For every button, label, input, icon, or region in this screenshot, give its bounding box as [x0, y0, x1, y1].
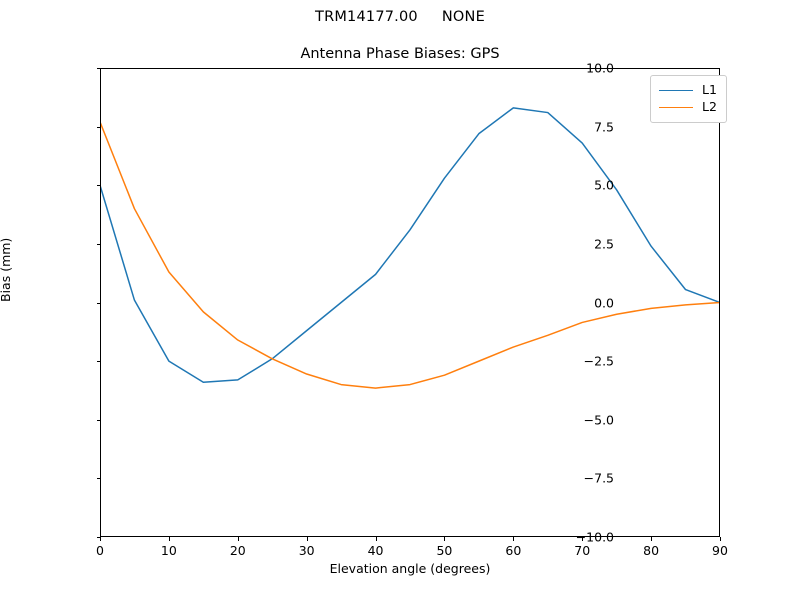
- series-line-l1: [100, 108, 720, 382]
- y-tick-label: 2.5: [594, 236, 614, 251]
- chart-figure: TRM14177.00 NONE Antenna Phase Biases: G…: [0, 0, 800, 600]
- legend-swatch-icon: [659, 107, 693, 108]
- y-tick-mark: [97, 68, 101, 69]
- legend-label: L1: [702, 84, 717, 97]
- y-tick-label: −5.0: [584, 412, 614, 427]
- x-tick-label: 80: [643, 543, 659, 558]
- x-tick-mark: [169, 537, 170, 541]
- x-tick-label: 20: [230, 543, 246, 558]
- chart-title: Antenna Phase Biases: GPS: [0, 46, 800, 62]
- y-tick-label: 10.0: [586, 61, 614, 76]
- x-tick-mark: [100, 537, 101, 541]
- chart-legend[interactable]: L1L2: [650, 75, 727, 123]
- figure-suptitle: TRM14177.00 NONE: [0, 9, 800, 25]
- legend-item-l2[interactable]: L2: [659, 99, 717, 116]
- x-tick-mark: [720, 537, 721, 541]
- y-tick-label: −2.5: [584, 354, 614, 369]
- y-tick-label: −7.5: [584, 471, 614, 486]
- y-tick-label: 7.5: [594, 119, 614, 134]
- x-tick-label: 90: [712, 543, 728, 558]
- y-tick-mark: [97, 420, 101, 421]
- y-axis-label: Bias (mm): [0, 238, 13, 302]
- data-lines: [100, 68, 720, 537]
- x-tick-mark: [376, 537, 377, 541]
- x-tick-label: 70: [574, 543, 590, 558]
- x-tick-mark: [444, 537, 445, 541]
- x-tick-label: 50: [436, 543, 452, 558]
- y-tick-mark: [97, 185, 101, 186]
- x-tick-mark: [307, 537, 308, 541]
- x-tick-label: 40: [368, 543, 384, 558]
- y-tick-label: 0.0: [594, 295, 614, 310]
- legend-label: L2: [702, 101, 717, 114]
- y-tick-mark: [97, 303, 101, 304]
- plot-area: −10.0−7.5−5.0−2.50.02.55.07.510.00102030…: [100, 68, 720, 537]
- y-tick-mark: [97, 127, 101, 128]
- x-tick-mark: [651, 537, 652, 541]
- x-tick-mark: [513, 537, 514, 541]
- y-tick-mark: [97, 478, 101, 479]
- x-tick-label: 10: [161, 543, 177, 558]
- y-tick-mark: [97, 361, 101, 362]
- x-tick-mark: [582, 537, 583, 541]
- x-tick-label: 60: [505, 543, 521, 558]
- legend-swatch-icon: [659, 90, 693, 91]
- y-tick-mark: [97, 244, 101, 245]
- legend-item-l1[interactable]: L1: [659, 82, 717, 99]
- x-tick-label: 30: [299, 543, 315, 558]
- y-tick-label: 5.0: [594, 178, 614, 193]
- x-tick-mark: [238, 537, 239, 541]
- x-tick-label: 0: [96, 543, 104, 558]
- x-axis-label: Elevation angle (degrees): [100, 561, 720, 576]
- series-line-l2: [100, 122, 720, 388]
